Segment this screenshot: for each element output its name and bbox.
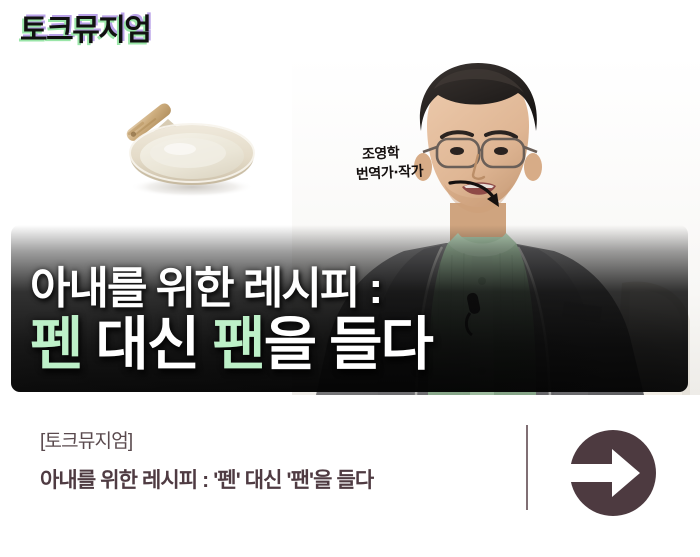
headline-line-1: 아내를 위한 레시피 :: [30, 267, 432, 311]
caption-block[interactable]: [토크뮤지엄] 아내를 위한 레시피 : '펜' 대신 '팬'을 들다: [40, 428, 510, 496]
thumbnail-card[interactable]: 조영학 번역가·작가 아내를 위한 레시피 : 펜 대신 팬을 들다: [0, 55, 700, 395]
brand-logo[interactable]: 토크뮤지엄: [20, 16, 151, 46]
headline: 아내를 위한 레시피 : 펜 대신 팬을 들다: [30, 267, 432, 374]
headline-keyword-pan: 팬: [212, 312, 263, 377]
caption-divider: [526, 425, 528, 510]
title-band: 아내를 위한 레시피 : 펜 대신 팬을 들다: [11, 225, 688, 392]
caption-title[interactable]: 아내를 위한 레시피 : '펜' 대신 '팬'을 들다: [40, 466, 510, 496]
caption-eyebrow: [토크뮤지엄]: [40, 428, 510, 457]
arrow-right-circle-icon[interactable]: [570, 430, 656, 516]
headline-text-instead: 대신: [81, 312, 212, 377]
headline-line-2: 펜 대신 팬을 들다: [30, 316, 432, 374]
headline-keyword-pen: 펜: [30, 312, 81, 377]
frying-pan-icon: [88, 83, 288, 218]
headline-text-tail: 을 들다: [264, 312, 432, 377]
